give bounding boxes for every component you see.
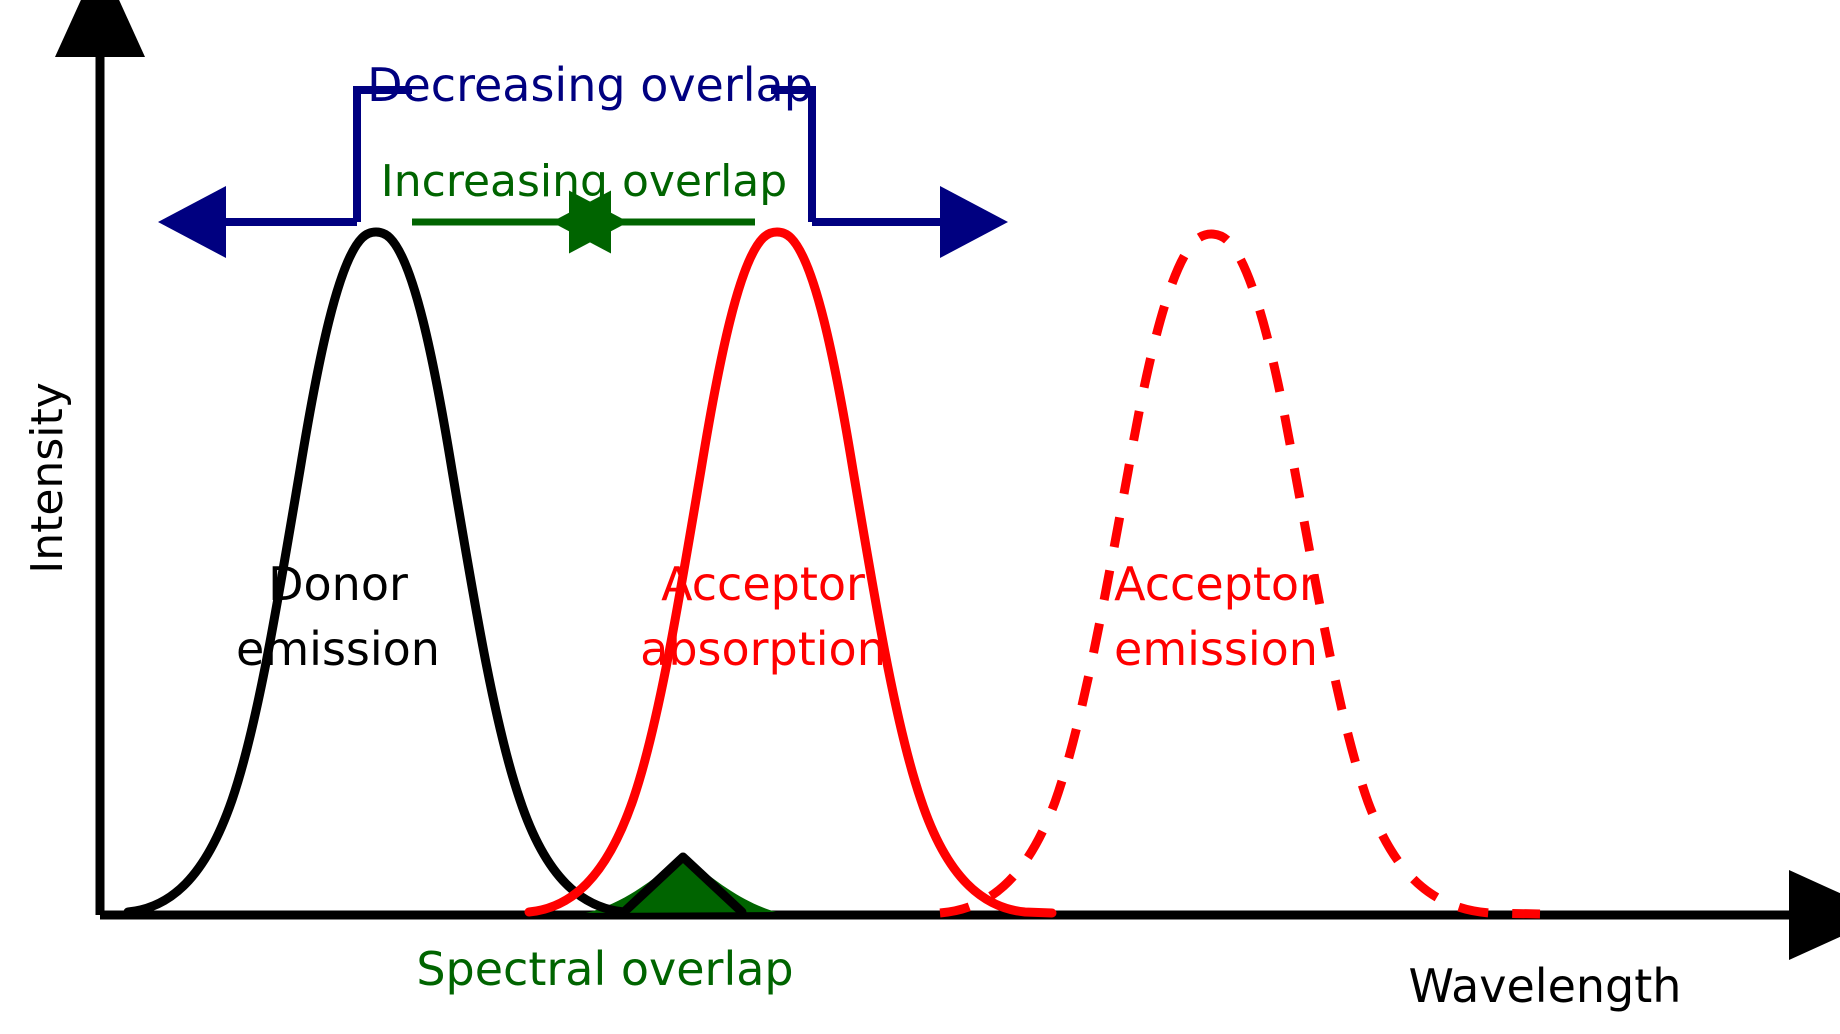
donor-emission-label-line1: Donor bbox=[268, 557, 408, 611]
x-axis-label: Wavelength bbox=[1409, 959, 1682, 1013]
decreasing-overlap-label: Decreasing overlap bbox=[367, 58, 813, 112]
y-axis-label: Intensity bbox=[22, 382, 73, 574]
spectral-overlap-label: Spectral overlap bbox=[416, 942, 793, 996]
increasing-overlap-label: Increasing overlap bbox=[381, 156, 787, 207]
acceptor-absorption-label-line2: absorption bbox=[640, 622, 886, 676]
figure-canvas: Decreasing overlap Increasing overlap In… bbox=[0, 0, 1840, 1034]
acceptor-emission-label-line2: emission bbox=[1114, 622, 1318, 676]
acceptor-absorption-label-line1: Acceptor bbox=[661, 557, 865, 611]
donor-emission-curve bbox=[128, 232, 742, 912]
acceptor-emission-label-line1: Acceptor bbox=[1114, 557, 1318, 611]
donor-emission-label-line2: emission bbox=[236, 622, 440, 676]
fret-spectral-overlap-diagram: Decreasing overlap Increasing overlap In… bbox=[0, 0, 1840, 1034]
